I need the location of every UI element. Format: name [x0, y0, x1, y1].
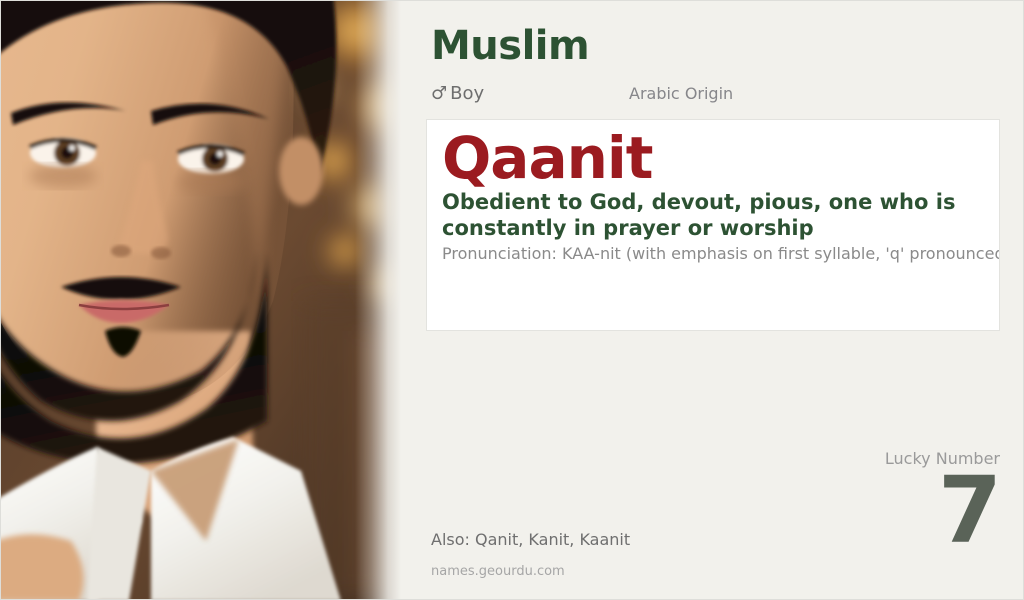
portrait-photo — [1, 1, 401, 600]
info-panel: Muslim ♂Boy Arabic Origin Qaanit Obedien… — [401, 1, 1024, 600]
origin-label: Arabic Origin — [629, 84, 733, 103]
gender-text: Boy — [450, 83, 484, 104]
name-pronunciation: Pronunciation: KAA-nit (with emphasis on… — [442, 244, 1000, 265]
name-detail-card: Qaanit Obedient to God, devout, pious, o… — [426, 119, 1000, 331]
page-title: Muslim — [431, 26, 589, 66]
alternate-spellings: Also: Qanit, Kanit, Kaanit — [431, 530, 630, 549]
name-card-screen: Muslim ♂Boy Arabic Origin Qaanit Obedien… — [0, 0, 1024, 600]
name-heading: Qaanit — [442, 128, 652, 189]
portrait-photo-panel — [1, 1, 401, 600]
site-watermark: names.geourdu.com — [431, 564, 565, 579]
lucky-number-block: Lucky Number 7 — [740, 451, 1000, 554]
lucky-number-value: 7 — [740, 469, 1000, 554]
name-meaning: Obedient to God, devout, pious, one who … — [442, 190, 987, 241]
name-meta-row: ♂Boy Arabic Origin — [431, 83, 1011, 107]
gender-label: ♂Boy — [431, 83, 484, 104]
male-gender-icon: ♂ — [431, 83, 447, 104]
